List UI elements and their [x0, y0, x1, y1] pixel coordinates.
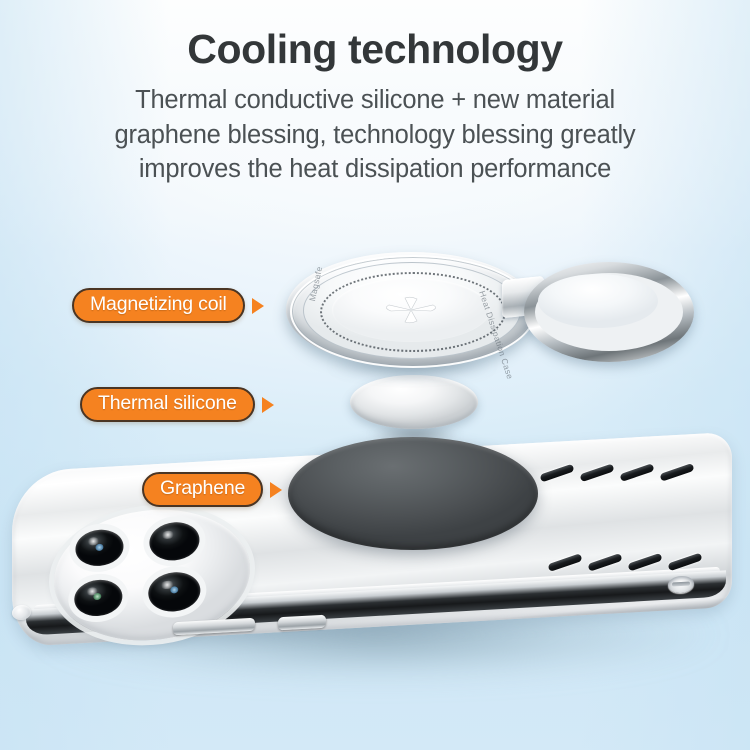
callout-thermal-silicone[interactable]: Thermal silicone: [80, 387, 274, 422]
camera-lens-4: [148, 570, 201, 613]
power-button: [278, 615, 326, 631]
header-block: Cooling technology Thermal conductive si…: [0, 26, 750, 187]
triangle-right-icon: [262, 397, 274, 413]
triangle-right-icon: [252, 298, 264, 314]
magnetic-ring-holder: Magsafe Heat Dissipation Case: [276, 248, 676, 376]
lens-glint-icon: [170, 586, 178, 594]
thermal-silicone-disc: [350, 375, 478, 429]
camera-lens-1: [75, 528, 124, 567]
fan-pinwheel-icon: [379, 296, 443, 324]
subtitle-line-1: Thermal conductive silicone + new materi…: [32, 83, 718, 118]
subtitle-line-3: improves the heat dissipation performanc…: [32, 152, 718, 187]
camera-lens-2: [149, 521, 200, 563]
lens-glint-icon: [93, 593, 101, 601]
callout-magnetizing-coil[interactable]: Magnetizing coil: [72, 288, 264, 323]
ring-holder-hole: [538, 274, 658, 328]
subtitle-line-2: graphene blessing, technology blessing g…: [32, 118, 718, 153]
page-title: Cooling technology: [0, 26, 750, 73]
callout-label: Thermal silicone: [80, 387, 255, 422]
callout-graphene[interactable]: Graphene: [142, 472, 282, 507]
triangle-right-icon: [270, 482, 282, 498]
page-subtitle: Thermal conductive silicone + new materi…: [0, 83, 750, 187]
lens-glint-icon: [95, 544, 103, 552]
graphene-disc: [288, 437, 538, 550]
camera-lens-3: [74, 578, 123, 617]
product-marketing-image: Cooling technology Thermal conductive si…: [0, 0, 750, 750]
callout-label: Magnetizing coil: [72, 288, 245, 323]
callout-label: Graphene: [142, 472, 263, 507]
